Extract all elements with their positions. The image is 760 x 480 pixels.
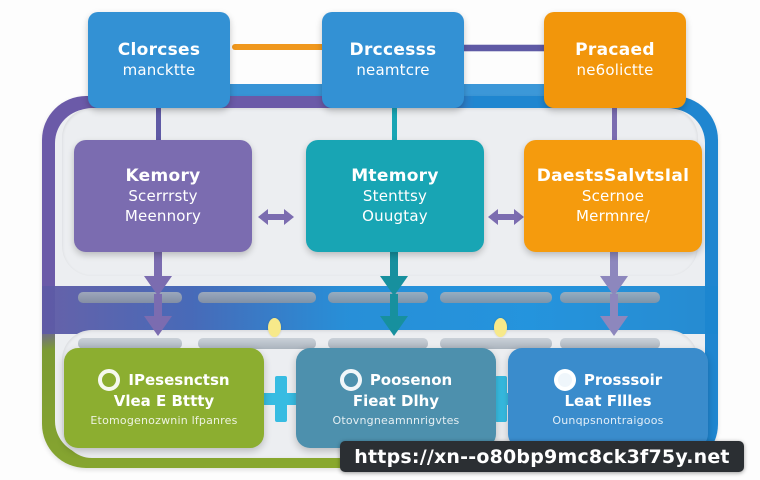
card-bottom-3-title: Prosssoir [584, 371, 662, 389]
connector-bidirectional-arrow-left [248, 206, 304, 228]
card-bottom-2-title: Poosenon [370, 371, 452, 389]
connector-down-arrow-1 [131, 250, 185, 336]
node-top-1-line2: mancktte [123, 61, 196, 81]
watermark-url: https://xn--o80bp9mc8ck3f75y.net [340, 441, 744, 472]
card-bottom-3[interactable]: Prosssoir Leat Fllles Ounqpsnontraigoos [508, 348, 708, 448]
node-middle-2[interactable]: Mtemory Stenttsy Ouugtay [306, 140, 484, 252]
card-bottom-1-subtitle: Vlea E Bttty [114, 392, 214, 410]
node-top-1[interactable]: Clorcses mancktte [88, 12, 230, 108]
node-top-3-line1: Pracaed [575, 39, 655, 61]
node-middle-1-line1: Kemory [125, 165, 200, 187]
connector-top-link-2-3 [452, 44, 550, 52]
accent-dot-right [494, 318, 507, 337]
connector-down-arrow-2 [367, 250, 421, 336]
node-top-1-line1: Clorcses [118, 39, 201, 61]
node-top-2[interactable]: Drccesss neamtcre [322, 12, 464, 108]
ring-icon [554, 369, 576, 391]
ring-icon [98, 369, 120, 391]
card-bottom-3-caption: Ounqpsnontraigoos [552, 414, 663, 427]
node-middle-1-line2: Scerrrsty [128, 187, 197, 207]
node-middle-2-line2: Stenttsy [363, 187, 427, 207]
divider-bar [440, 292, 552, 303]
node-top-2-line1: Drccesss [350, 39, 437, 61]
diagram-canvas: Clorcses mancktte Drccesss neamtcre Prac… [0, 0, 760, 480]
card-bottom-2[interactable]: Poosenon Fieat Dlhy Otovngneamnnrigvtes [296, 348, 496, 448]
accent-dot-left [268, 318, 281, 337]
divider-bar [198, 292, 316, 303]
card-bottom-2-subtitle: Fieat Dlhy [353, 392, 439, 410]
connector-down-arrow-3 [587, 250, 641, 336]
node-middle-1[interactable]: Kemory Scerrrsty Meennory [74, 140, 252, 252]
node-middle-3[interactable]: DaestsSalvtsIal Scernoe Mermnre/ [524, 140, 702, 252]
node-middle-1-line3: Meennory [125, 207, 201, 227]
node-top-3[interactable]: Pracaed ne6olictte [544, 12, 686, 108]
watermark-url-text: https://xn--o80bp9mc8ck3f75y.net [354, 446, 729, 468]
card-bottom-1[interactable]: IPesesnctsn Vlea E Bttty Etomogenozwnin … [64, 348, 264, 448]
node-middle-3-line3: Mermnre/ [576, 207, 650, 227]
node-middle-3-line2: Scernoe [582, 187, 644, 207]
node-top-3-line2: ne6olictte [576, 61, 653, 81]
card-bottom-1-title: IPesesnctsn [128, 371, 229, 389]
node-top-2-line2: neamtcre [356, 61, 429, 81]
card-bottom-1-caption: Etomogenozwnin lfpanres [90, 414, 237, 427]
node-middle-3-line1: DaestsSalvtsIal [537, 165, 689, 187]
node-middle-2-line3: Ouugtay [362, 207, 428, 227]
card-bottom-2-caption: Otovngneamnnrigvtes [333, 414, 460, 427]
card-bottom-3-subtitle: Leat Fllles [564, 392, 651, 410]
connector-top-link-1-2 [232, 44, 334, 50]
node-middle-2-line1: Mtemory [351, 165, 439, 187]
ring-icon [340, 369, 362, 391]
